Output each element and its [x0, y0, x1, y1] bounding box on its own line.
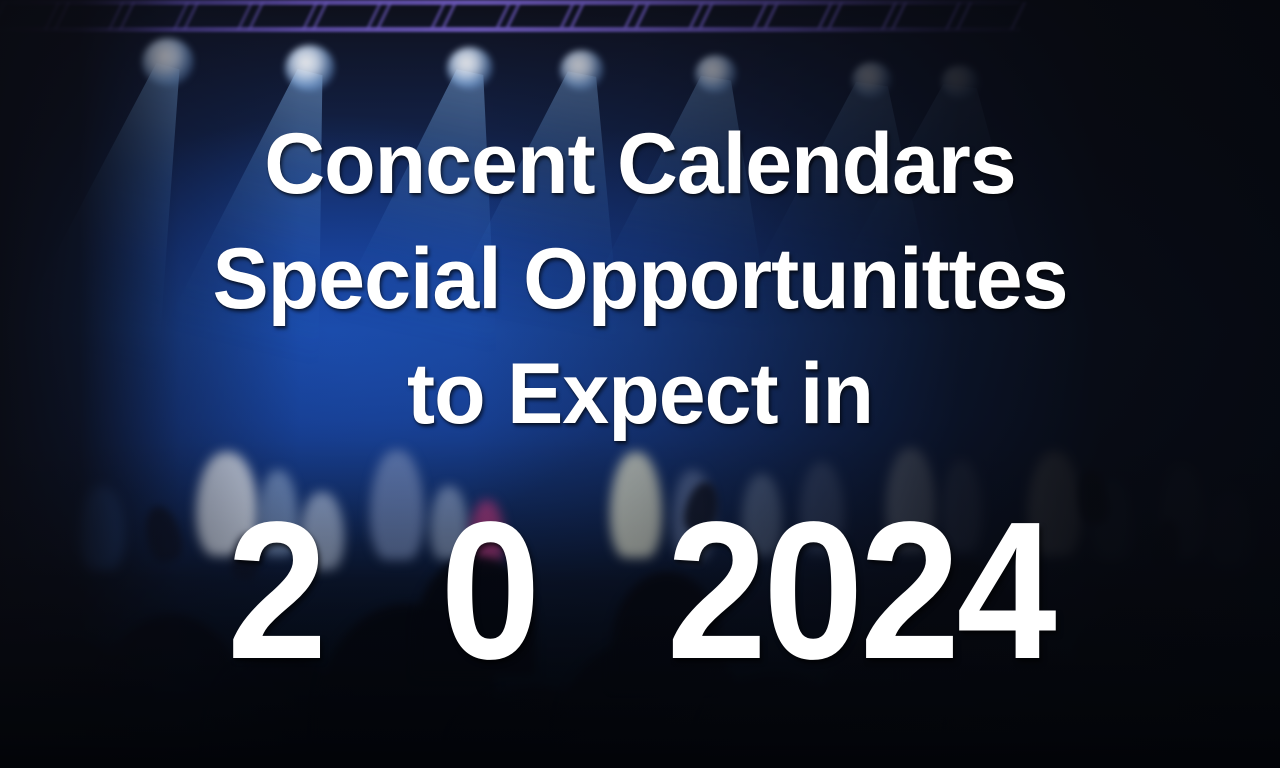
year-digits-main: 2024	[667, 481, 1053, 700]
headline-line-3: to Expect in	[13, 351, 1267, 437]
year-digit-second: 0	[440, 481, 537, 700]
headline-year-line: 2 0 2024	[51, 493, 1229, 689]
concert-banner: Concent Calendars Special Opportunittes …	[0, 0, 1280, 768]
headline-block: Concent Calendars Special Opportunittes …	[0, 0, 1280, 768]
year-digit-first: 2	[227, 481, 324, 700]
headline-line-1: Concent Calendars	[13, 121, 1267, 207]
headline-line-2: Special Opportunittes	[13, 236, 1267, 322]
